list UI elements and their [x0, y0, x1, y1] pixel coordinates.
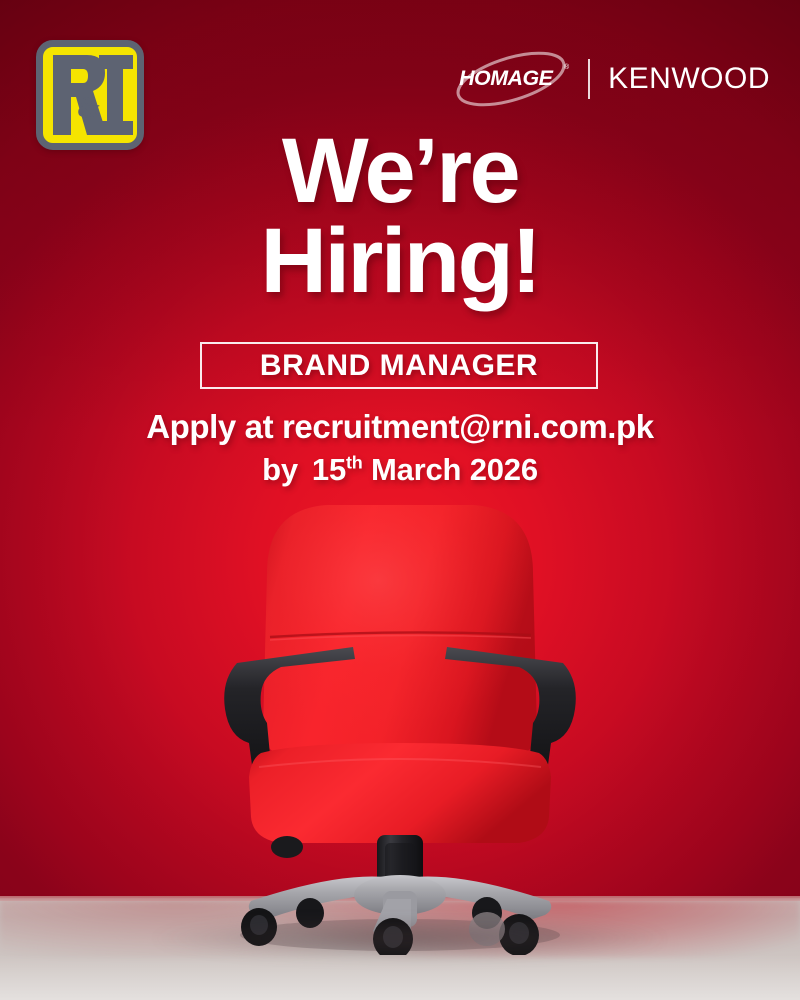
page-title: We’re Hiring! [0, 126, 800, 306]
partner-logo-divider [588, 59, 590, 99]
homage-logo-text: HOMAGE [459, 67, 552, 91]
deadline-rest: March 2026 [371, 452, 538, 487]
job-role-title: BRAND MANAGER [260, 349, 538, 383]
homage-logo[interactable]: HOMAGE ® [452, 54, 570, 104]
headline-line-2: Hiring! [0, 216, 800, 306]
deadline-prefix: by [262, 452, 298, 487]
deadline-day: 15 [312, 452, 346, 487]
office-chair-image [215, 495, 585, 955]
headline-line-1: We’re [0, 126, 800, 216]
kenwood-logo-text: KENWOOD [608, 62, 770, 96]
application-deadline: by15th March 2026 [0, 452, 800, 488]
job-role-box: BRAND MANAGER [200, 342, 598, 389]
floor-gloss-reflection [0, 955, 800, 1000]
partner-logo-bar: HOMAGE ® KENWOOD [452, 54, 770, 104]
apply-instruction[interactable]: Apply at recruitment@rni.com.pk [0, 408, 800, 446]
svg-text:&: & [77, 91, 102, 124]
hiring-poster: & HOMAGE ® KENWOOD We’re Hiring! BRAND M… [0, 0, 800, 1000]
deadline-ordinal: th [346, 453, 363, 473]
homage-registered-icon: ® [564, 64, 569, 71]
